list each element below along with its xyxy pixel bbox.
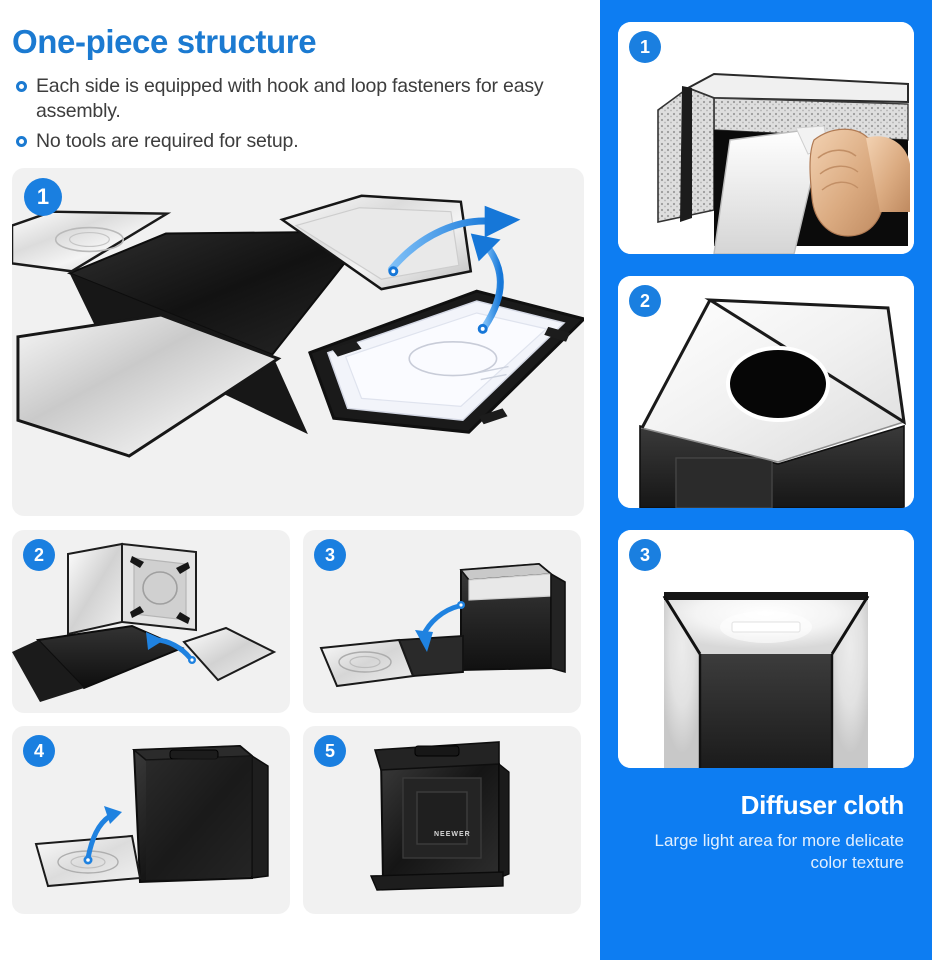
photo-badge-2: 2	[629, 285, 661, 317]
feature-bullet-list: Each side is equipped with hook and loop…	[12, 74, 584, 154]
page-title: One-piece structure	[12, 24, 584, 60]
diffuser-photo-card-2: 2	[618, 276, 914, 508]
diffuser-photo-card-1: 1	[618, 22, 914, 254]
photo-1-illustration	[618, 22, 914, 254]
step-badge-2: 2	[23, 539, 55, 571]
photo-3-illustration	[618, 530, 914, 768]
photo-badge-1: 1	[629, 31, 661, 63]
step-badge-4: 4	[23, 735, 55, 767]
diffuser-photo-card-3: 3	[618, 530, 914, 768]
step-card-3: 3	[303, 530, 581, 713]
infographic-page: One-piece structure Each side is equippe…	[0, 0, 932, 960]
brand-label: NEEWER	[434, 831, 471, 838]
bullet-dot-icon	[16, 136, 27, 147]
step-badge-1: 1	[24, 178, 62, 216]
bullet-text: No tools are required for setup.	[36, 129, 298, 154]
step-card-4: 4	[12, 726, 290, 914]
step-card-1: 1	[12, 168, 584, 516]
photo-badge-3: 3	[629, 539, 661, 571]
step-card-2: 2	[12, 530, 290, 713]
right-section: 1	[600, 0, 932, 960]
list-item: Each side is equipped with hook and loop…	[16, 74, 584, 124]
step-badge-3: 3	[314, 539, 346, 571]
right-panel-title: Diffuser cloth	[618, 790, 914, 821]
bullet-dot-icon	[16, 81, 27, 92]
step-row-upper: 2	[12, 530, 584, 713]
step-1-illustration	[12, 168, 584, 514]
right-panel-subtitle: Large light area for more delicate color…	[618, 830, 914, 874]
step-card-5: 5 NEEWER	[303, 726, 581, 914]
step-badge-5: 5	[314, 735, 346, 767]
list-item: No tools are required for setup.	[16, 129, 584, 154]
step-row-lower: 4	[12, 726, 584, 914]
bullet-text: Each side is equipped with hook and loop…	[36, 74, 584, 124]
left-section: One-piece structure Each side is equippe…	[0, 0, 600, 960]
photo-2-illustration	[618, 276, 914, 508]
